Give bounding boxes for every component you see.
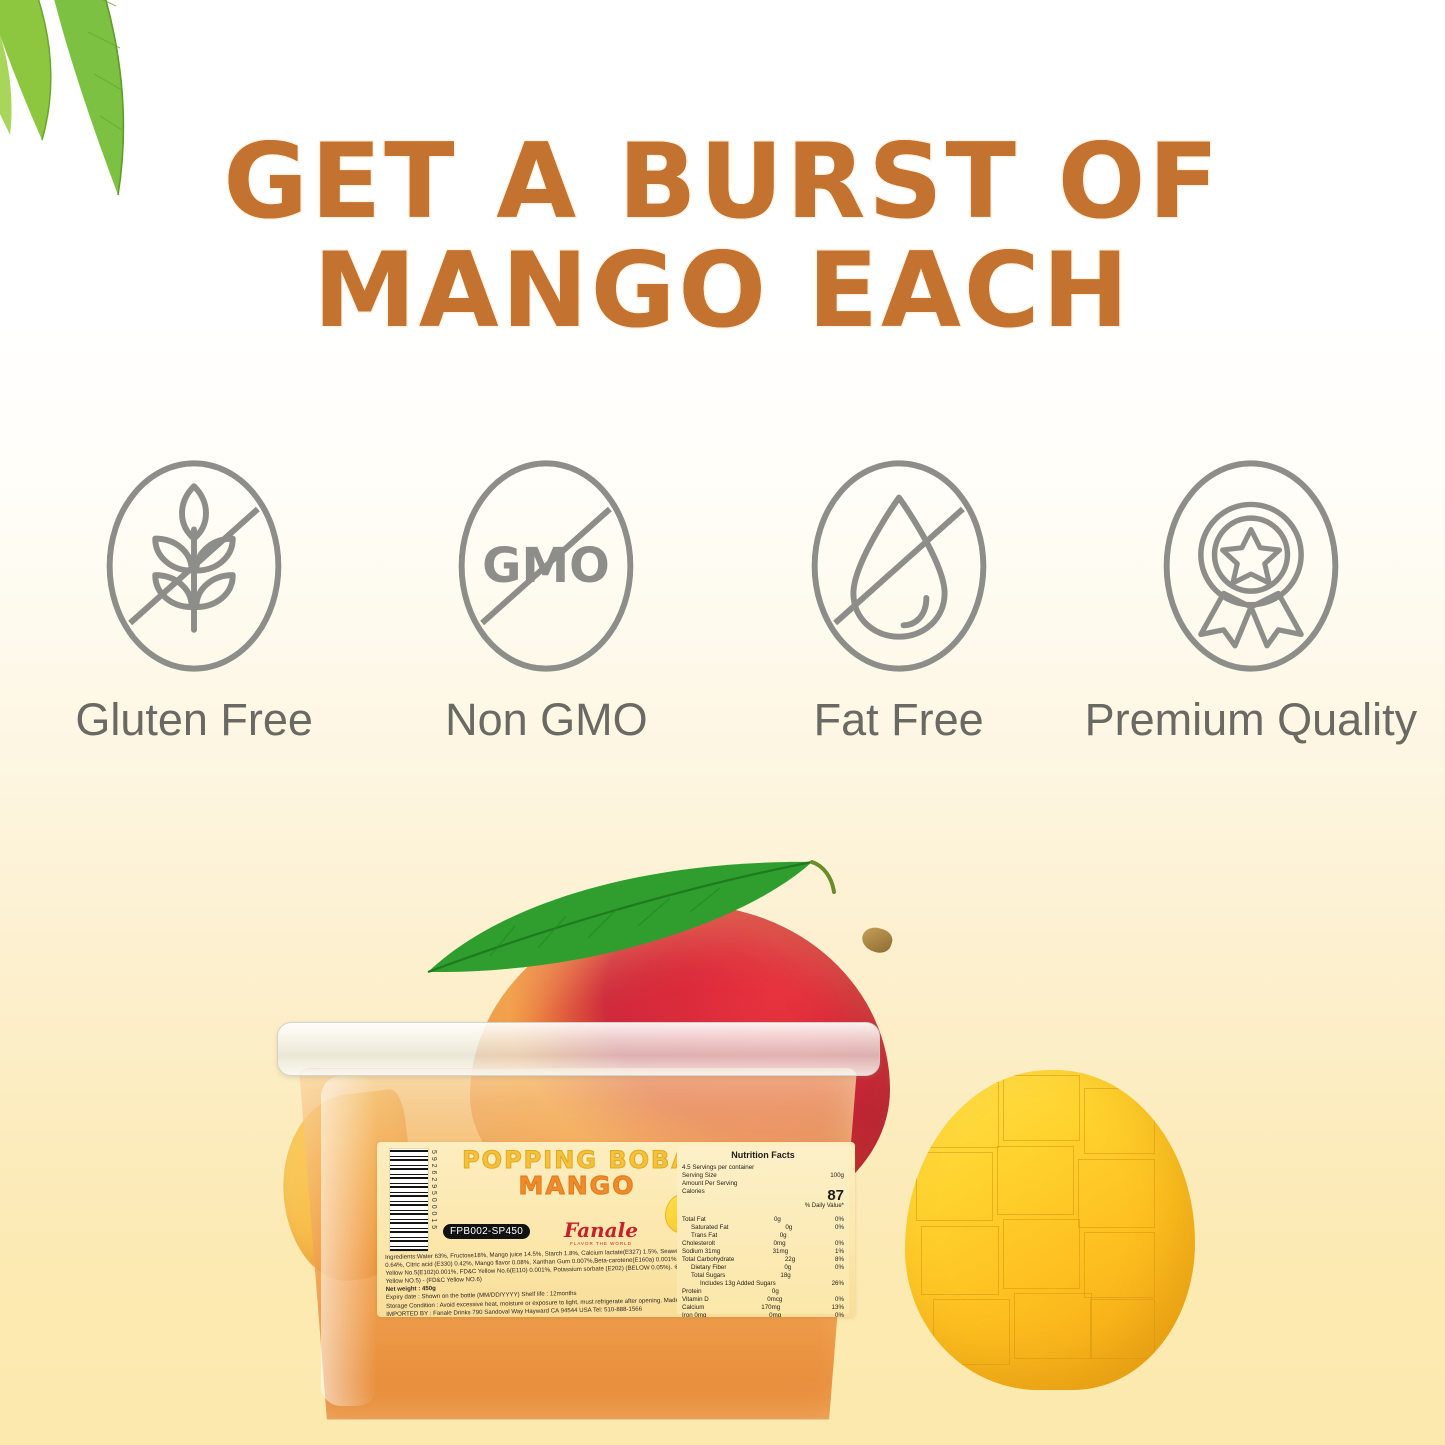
tub-lid <box>277 1022 880 1076</box>
nutrient-name: Total Carbohydrate <box>682 1256 734 1264</box>
nutrient-daily-value: 1% <box>818 1248 844 1256</box>
nutrient-daily-value: 0% <box>818 1312 844 1317</box>
nutrient-name: Iron 0mg <box>682 1312 706 1317</box>
nutrient-daily-value <box>818 1288 844 1296</box>
feature-label: Fat Free <box>814 694 984 746</box>
nutrient-amount: 22g <box>757 1256 795 1264</box>
nutrient-name: Sodium 31mg <box>682 1248 720 1256</box>
serving-size-row: Serving Size 100g <box>682 1172 844 1180</box>
calories-value: 87 <box>827 1188 844 1203</box>
nutrient-amount: 0g <box>741 1288 779 1296</box>
feature-fat-free: Fat Free <box>734 452 1064 746</box>
water-drop-crossed-out-icon <box>785 452 1013 680</box>
nutrient-amount: 0mcg <box>744 1296 782 1304</box>
boba-container: 5 9 2 6 2 9 5 0 0 0 1 5 POPPING BOBA MAN… <box>285 1022 870 1422</box>
nutrition-row: Iron 0mg0mg0% <box>682 1312 844 1317</box>
servings-per-container: 4.5 Servings per container <box>682 1164 844 1172</box>
amount-per-serving: Amount Per Serving <box>682 1180 844 1188</box>
nutrient-daily-value: 26% <box>818 1280 844 1288</box>
headline-line-1: GET A BURST OF <box>0 128 1445 237</box>
nutrient-amount: 31mg <box>750 1248 788 1256</box>
nutrient-name: Saturated Fat <box>691 1224 729 1232</box>
calories-label: Calories <box>682 1188 705 1203</box>
headline: GET A BURST OF MANGO EACH <box>0 128 1445 346</box>
nutrient-amount: 0g <box>743 1216 781 1224</box>
feature-non-gmo: GMO Non GMO <box>381 452 711 746</box>
nutrient-daily-value: 0% <box>818 1224 844 1232</box>
nutrient-name: Includes 13g Added Sugars <box>700 1280 776 1288</box>
ingredients-block: Ingredients:Water 63%, Fructose18%, Mang… <box>385 1247 716 1317</box>
nutrient-amount: 0g <box>749 1232 787 1240</box>
net-weight-value: 450g <box>422 1285 436 1292</box>
nutrition-row: Total Sugars18g <box>682 1272 844 1280</box>
brand-logo: Fanale FLAVOR THE WORLD <box>555 1220 647 1246</box>
serving-size-label: Serving Size <box>682 1172 717 1180</box>
nutrient-name: Trans Fat <box>691 1232 717 1240</box>
nutrition-row: Vitamin D0mcg0% <box>682 1296 844 1304</box>
feature-label: Non GMO <box>445 694 648 746</box>
product-title: POPPING BOBA <box>447 1148 707 1172</box>
net-weight-label: Net weight : <box>386 1286 421 1294</box>
nutrient-daily-value: 8% <box>818 1256 844 1264</box>
mango-dice-grid <box>905 1070 1195 1390</box>
feature-premium-quality: Premium Quality <box>1086 452 1416 746</box>
nutrient-daily-value: 0% <box>818 1216 844 1224</box>
calories-row: Calories 87 <box>682 1188 844 1203</box>
nutrient-name: Total Fat <box>682 1216 706 1224</box>
nutrient-name: Cholesterolt <box>682 1240 715 1248</box>
nutrient-name: Protein <box>682 1288 702 1296</box>
nutrition-row: Dietary Fiber0g0% <box>682 1264 844 1272</box>
nutrition-row: Saturated Fat0g0% <box>682 1224 844 1232</box>
nutrient-amount: 170mg <box>742 1304 780 1312</box>
mango-stem <box>859 924 895 956</box>
nutrition-row: Trans Fat0g <box>682 1232 844 1240</box>
nutrient-name: Dietary Fiber <box>691 1264 726 1272</box>
award-rosette-star-icon <box>1137 452 1365 680</box>
wheat-crossed-out-icon <box>80 452 308 680</box>
nutrition-facts-panel: Nutrition Facts 4.5 Servings per contain… <box>677 1146 849 1314</box>
nutrient-amount: 18g <box>753 1272 791 1280</box>
nutrient-name: Total Sugars <box>691 1272 725 1280</box>
nutrition-row: Total Carbohydrate22g8% <box>682 1256 844 1264</box>
barcode-digits: 5 9 2 6 2 9 5 0 0 0 1 5 <box>425 1150 437 1250</box>
nutrient-amount: 0mg <box>748 1240 786 1248</box>
nutrient-amount <box>778 1280 816 1288</box>
nutrient-daily-value: 0% <box>818 1240 844 1248</box>
nutrition-row: Calcium170mg13% <box>682 1304 844 1312</box>
sku-badge: FPB002-SP450 <box>443 1224 530 1239</box>
feature-badges: Gluten Free GMO Non GMO Fat Free <box>0 452 1445 746</box>
nutrient-name: Calcium <box>682 1304 704 1312</box>
nutrient-amount: 0g <box>754 1224 792 1232</box>
mango-leaf <box>420 852 840 1002</box>
gmo-crossed-out-icon: GMO <box>432 452 660 680</box>
nutrient-name: Vitamin D <box>682 1296 709 1304</box>
nutrient-amount: 0mg <box>743 1312 781 1317</box>
product-scene: 5 9 2 6 2 9 5 0 0 0 1 5 POPPING BOBA MAN… <box>0 800 1445 1445</box>
product-label: 5 9 2 6 2 9 5 0 0 0 1 5 POPPING BOBA MAN… <box>377 1142 855 1317</box>
serving-size-value: 100g <box>830 1172 844 1180</box>
barcode <box>389 1148 429 1252</box>
daily-value-header: % Daily Value* <box>682 1203 844 1211</box>
feature-label: Premium Quality <box>1085 694 1418 746</box>
tub-highlight <box>321 1076 377 1406</box>
nutrition-row: Cholesterolt0mg0% <box>682 1240 844 1248</box>
headline-line-2: MANGO EACH <box>0 237 1445 346</box>
nutrient-daily-value: 13% <box>818 1304 844 1312</box>
brand-name: Fanale <box>555 1220 647 1240</box>
product-infographic: GET A BURST OF MANGO EACH Gluten Free GM… <box>0 0 1445 1445</box>
nutrition-row: Protein0g <box>682 1288 844 1296</box>
diced-mango-half <box>905 1070 1195 1390</box>
nutrient-daily-value <box>818 1272 844 1280</box>
nutrient-amount: 0g <box>753 1264 791 1272</box>
feature-label: Gluten Free <box>75 694 313 746</box>
nutrition-row: Sodium 31mg31mg1% <box>682 1248 844 1256</box>
nutrient-daily-value: 0% <box>818 1264 844 1272</box>
nutrition-rows: Total Fat0g0%Saturated Fat0g0%Trans Fat0… <box>682 1216 844 1317</box>
nutrient-daily-value <box>818 1232 844 1240</box>
nutrient-daily-value: 0% <box>818 1296 844 1304</box>
nutrition-row: Includes 13g Added Sugars26% <box>682 1280 844 1288</box>
feature-gluten-free: Gluten Free <box>29 452 359 746</box>
nutrition-title: Nutrition Facts <box>682 1150 844 1162</box>
nutrition-row: Total Fat0g0% <box>682 1216 844 1224</box>
